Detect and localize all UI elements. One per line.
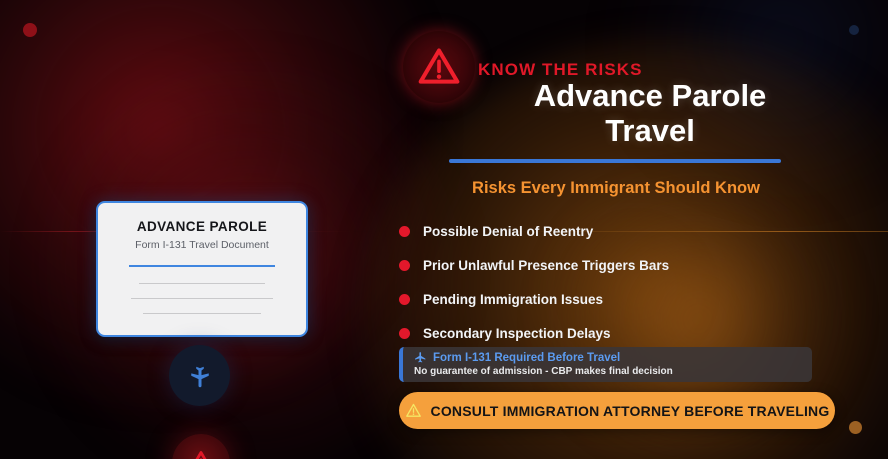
title-underline <box>449 159 781 163</box>
list-item: Possible Denial of Reentry <box>399 214 869 248</box>
bullet-dot-icon <box>399 294 410 305</box>
bullet-dot-icon <box>399 260 410 271</box>
risk-label: Prior Unlawful Presence Triggers Bars <box>423 258 669 273</box>
document-card-placeholder-line <box>131 298 273 299</box>
list-item: Prior Unlawful Presence Triggers Bars <box>399 248 869 282</box>
airplane-badge <box>169 345 230 406</box>
form-requirement-callout: Form I-131 Required Before Travel No gua… <box>399 347 812 382</box>
eyebrow-label: KNOW THE RISKS <box>478 60 643 80</box>
slide-root: ADVANCE PAROLE Form I-131 Travel Documen… <box>0 0 888 459</box>
warning-triangle-icon <box>405 402 422 419</box>
subheading: Risks Every Immigrant Should Know <box>390 179 842 198</box>
content-panel: KNOW THE RISKS Advance Parole Travel Ris… <box>390 0 888 459</box>
consult-attorney-button[interactable]: CONSULT IMMIGRATION ATTORNEY BEFORE TRAV… <box>399 392 835 429</box>
risk-label: Pending Immigration Issues <box>423 292 603 307</box>
list-item: Secondary Inspection Delays <box>399 316 869 350</box>
document-card-placeholder-line <box>143 313 261 314</box>
callout-title: Form I-131 Required Before Travel <box>433 352 620 364</box>
risk-label: Secondary Inspection Delays <box>423 326 611 341</box>
cta-label: CONSULT IMMIGRATION ATTORNEY BEFORE TRAV… <box>431 403 830 419</box>
risk-label: Possible Denial of Reentry <box>423 224 593 239</box>
bullet-dot-icon <box>399 226 410 237</box>
advance-parole-document-card: ADVANCE PAROLE Form I-131 Travel Documen… <box>96 201 308 337</box>
list-item: Pending Immigration Issues <box>399 282 869 316</box>
callout-subtitle: No guarantee of admission - CBP makes fi… <box>414 366 812 377</box>
page-title: Advance Parole Travel <box>450 78 850 148</box>
bullet-dot-icon <box>399 328 410 339</box>
risk-list: Possible Denial of Reentry Prior Unlawfu… <box>399 214 869 350</box>
airplane-icon <box>414 351 427 364</box>
page-title-line2: Travel <box>605 113 695 148</box>
decorative-dot-red <box>23 23 37 37</box>
page-title-line1: Advance Parole <box>534 78 767 113</box>
document-card-subtitle: Form I-131 Travel Document <box>98 239 306 251</box>
warning-triangle-icon <box>187 449 215 459</box>
airplane-icon <box>185 361 215 391</box>
document-card-accent-rule <box>129 265 275 267</box>
callout-title-row: Form I-131 Required Before Travel <box>414 351 812 364</box>
document-card-title: ADVANCE PAROLE <box>98 219 306 234</box>
document-card-placeholder-line <box>139 283 265 284</box>
